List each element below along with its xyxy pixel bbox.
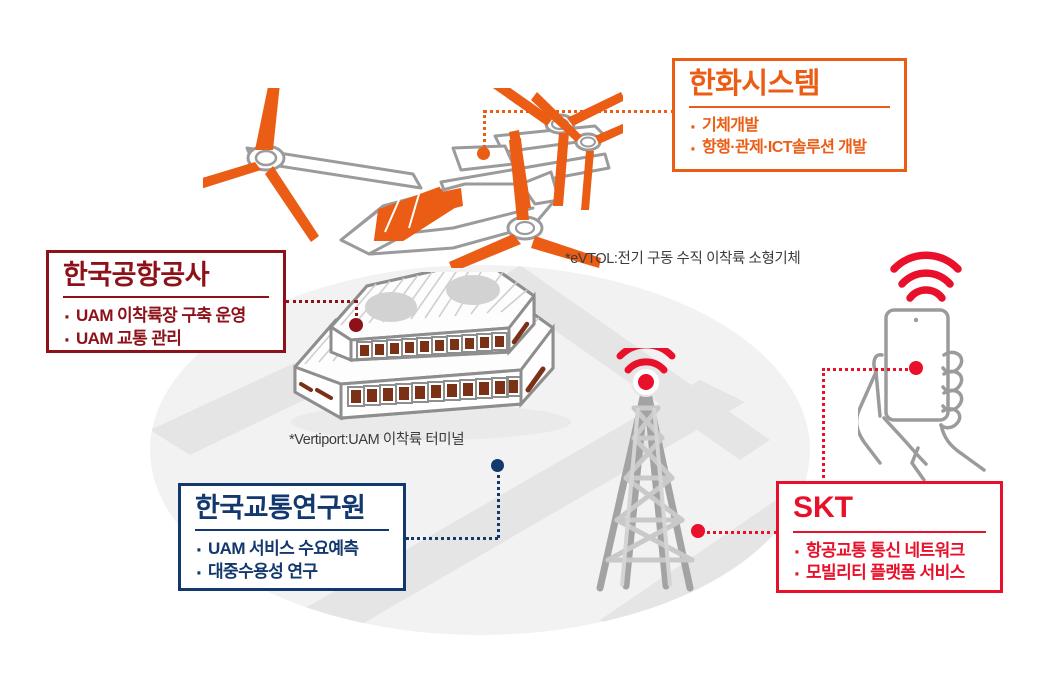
connector-koti-vertical	[497, 468, 500, 538]
list-item: UAM 이착륙장 구축 운영	[63, 305, 269, 328]
list-item: 항공교통 통신 네트워크	[793, 540, 986, 563]
connector-aircraft-horizontal	[483, 110, 675, 113]
phone-camera-dot	[914, 318, 918, 322]
caption-evtol: *eVTOL:전기 구동 수직 이착륙 소형기체	[565, 247, 800, 268]
caption-vertiport: *Vertiport:UAM 이착륙 터미널	[289, 428, 464, 449]
info-box-skt-list: 항공교통 통신 네트워크 모빌리티 플랫폼 서비스	[793, 540, 986, 586]
connector-dot-phone	[909, 361, 923, 375]
connector-dot-tower	[691, 524, 705, 538]
list-item: 항행·관제·ICT솔루션 개발	[689, 137, 890, 159]
connector-tower-horizontal	[700, 531, 778, 534]
cell-tower	[578, 348, 738, 598]
vertiport-building	[281, 272, 581, 442]
connector-dot-vertiport	[349, 318, 363, 332]
info-box-kac-divider	[63, 296, 269, 298]
helipad-circle-2	[446, 275, 500, 305]
connector-phone-horizontal	[822, 368, 914, 371]
vertiport-upper-tier	[331, 272, 534, 360]
info-box-hanwha-list: 기체개발 항행·관제·ICT솔루션 개발	[689, 115, 890, 158]
info-box-koti-list: UAM 서비스 수요예측 대중수용성 연구	[195, 538, 389, 584]
tower-beacon-dot	[638, 374, 654, 390]
tower-wifi-icon	[612, 348, 680, 370]
thumb	[874, 355, 882, 416]
info-box-hanwha[interactable]: 한화시스템 기체개발 항행·관제·ICT솔루션 개발	[672, 58, 907, 172]
list-item: UAM 서비스 수요예측	[195, 538, 389, 561]
info-box-korea-airports-corp[interactable]: 한국공항공사 UAM 이착륙장 구축 운영 UAM 교통 관리	[46, 250, 286, 353]
phone-wifi-icon	[894, 255, 958, 298]
connector-dot-aircraft	[477, 147, 490, 160]
info-box-skt-title: SKT	[793, 492, 986, 524]
infographic-canvas: *eVTOL:전기 구동 수직 이착륙 소형기체 *Vertiport:UAM …	[0, 0, 1060, 685]
list-item: 대중수용성 연구	[195, 561, 389, 584]
info-box-kac-title: 한국공항공사	[63, 261, 269, 289]
list-item: 모빌리티 플랫폼 서비스	[793, 562, 986, 585]
list-item: UAM 교통 관리	[63, 328, 269, 351]
info-box-korea-transport-institute[interactable]: 한국교통연구원 UAM 서비스 수요예측 대중수용성 연구	[178, 483, 406, 591]
list-item: 기체개발	[689, 115, 890, 137]
info-box-kac-list: UAM 이착륙장 구축 운영 UAM 교통 관리	[63, 305, 269, 351]
evtol-aircraft	[203, 88, 623, 268]
connector-dot-ground	[491, 459, 504, 472]
info-box-skt[interactable]: SKT 항공교통 통신 네트워크 모빌리티 플랫폼 서비스	[776, 481, 1003, 593]
info-box-skt-divider	[793, 531, 986, 533]
helipad-circle-1	[365, 292, 417, 322]
info-box-hanwha-title: 한화시스템	[689, 69, 890, 99]
info-box-koti-divider	[195, 529, 389, 531]
connector-koti-horizontal	[406, 537, 498, 540]
connector-kac-horizontal	[286, 300, 357, 303]
info-box-hanwha-divider	[689, 106, 890, 108]
info-box-koti-title: 한국교통연구원	[195, 494, 389, 522]
connector-phone-vertical	[822, 368, 825, 484]
